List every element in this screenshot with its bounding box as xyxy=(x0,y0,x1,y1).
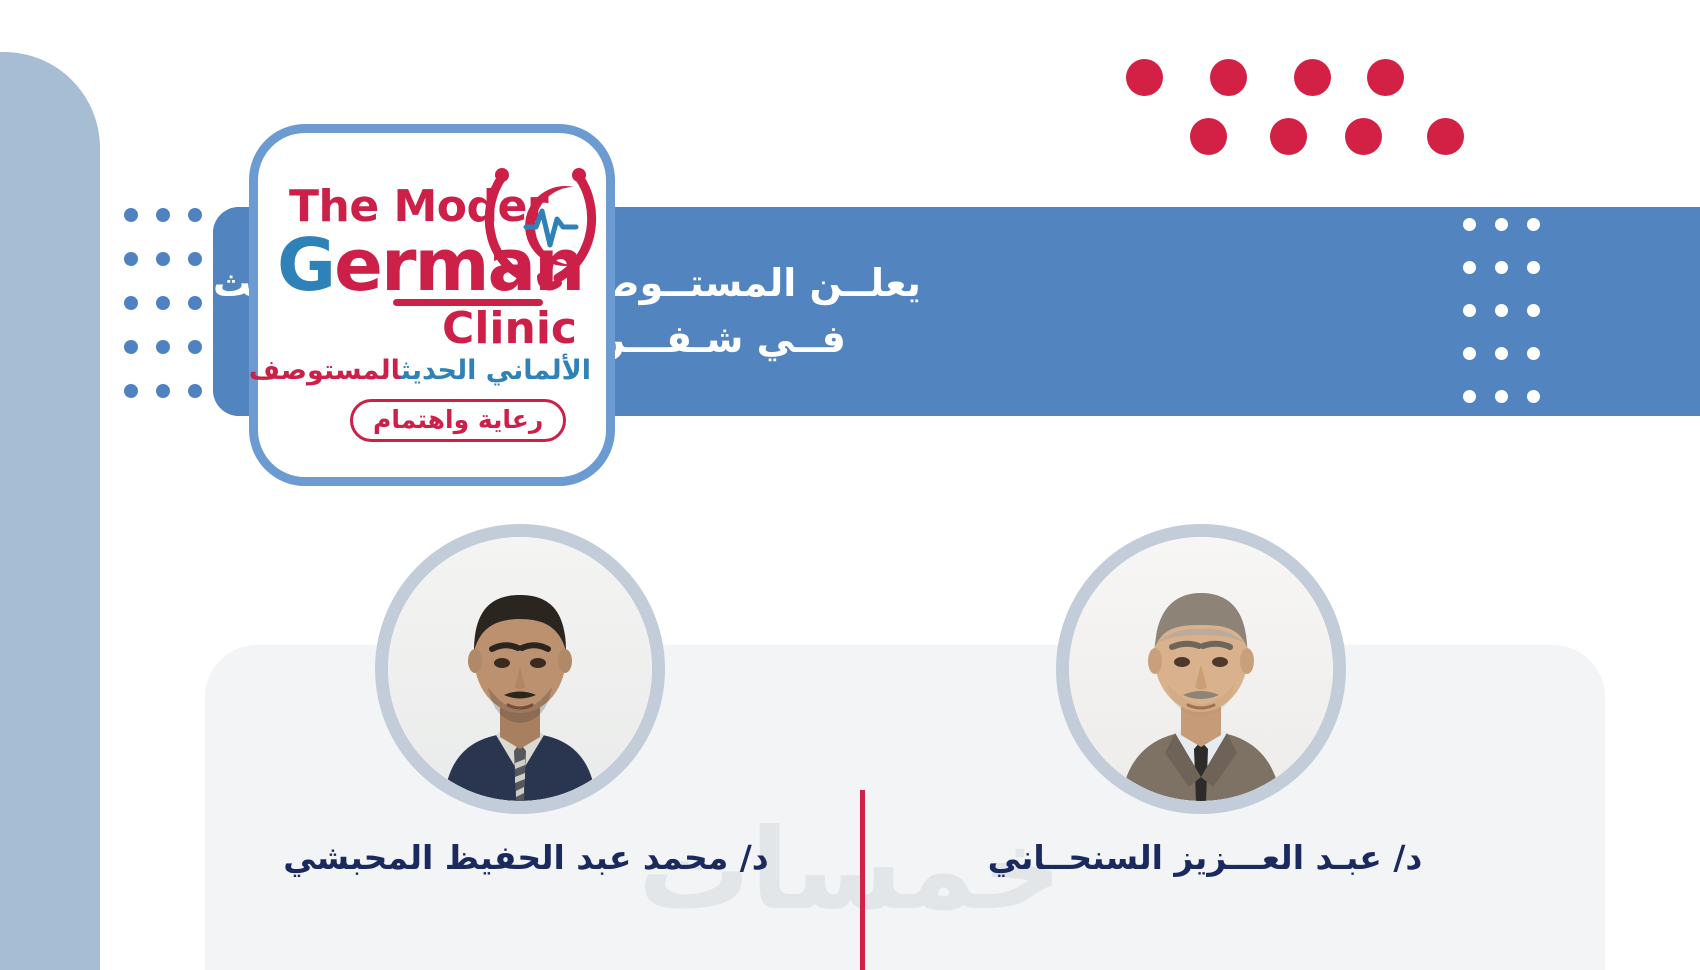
decor-dot xyxy=(124,296,138,310)
decor-dot xyxy=(124,340,138,354)
decor-dot xyxy=(156,252,170,266)
logo-arabic-red: المستوصف xyxy=(249,355,401,386)
decor-dot xyxy=(1527,261,1540,274)
decor-dot xyxy=(188,340,202,354)
decor-dot xyxy=(1463,347,1476,360)
decor-dot xyxy=(188,384,202,398)
doctor-left-photo xyxy=(388,537,652,801)
logo-text-clinic: Clinic xyxy=(442,303,577,354)
red-decor-dot xyxy=(1270,118,1307,155)
left-accent-bar xyxy=(0,52,100,970)
logo-tagline-badge: رعاية واهتمام xyxy=(350,399,566,442)
decor-dot xyxy=(1527,347,1540,360)
red-decor-dot xyxy=(1294,59,1331,96)
logo-arabic-blue: الألماني الحديث xyxy=(401,355,591,386)
portrait-illustration-left xyxy=(388,537,652,801)
red-decor-dot xyxy=(1190,118,1227,155)
logo-letter-g: G xyxy=(277,223,334,307)
portrait-illustration-right xyxy=(1069,537,1333,801)
decor-dot xyxy=(1463,218,1476,231)
clinic-logo: The Moder German Clinic الألماني الحديثا… xyxy=(267,155,597,455)
decor-dot xyxy=(1495,304,1508,317)
decor-dot xyxy=(1495,347,1508,360)
decor-dot xyxy=(188,296,202,310)
decor-dot xyxy=(188,252,202,266)
decor-dot xyxy=(156,296,170,310)
vertical-red-divider xyxy=(860,790,865,970)
red-decor-dot xyxy=(1427,118,1464,155)
decor-dot xyxy=(1463,390,1476,403)
decor-dot xyxy=(1527,390,1540,403)
logo-arabic-name: الألماني الحديثالمستوصف xyxy=(249,355,591,386)
doctor-left-avatar xyxy=(375,524,665,814)
decor-dot xyxy=(1527,218,1540,231)
doctor-left-name: د/ محمد عبد الحفيظ المحبشي xyxy=(276,838,776,877)
decor-dot xyxy=(1463,304,1476,317)
banner-dot-grid xyxy=(1463,218,1559,433)
decor-dot xyxy=(124,384,138,398)
decor-dot xyxy=(1495,218,1508,231)
red-decor-dot xyxy=(1345,118,1382,155)
decor-dot xyxy=(1463,261,1476,274)
crescent-stethoscope-heartbeat-icon xyxy=(478,161,603,291)
doctor-right-photo xyxy=(1069,537,1333,801)
left-dot-grid xyxy=(124,208,220,428)
decor-dot xyxy=(1495,261,1508,274)
poster-canvas: يعلــن المستــوصف الألمــاني الحـديث فــ… xyxy=(0,0,1700,970)
red-decor-dot xyxy=(1210,59,1247,96)
decor-dot xyxy=(156,384,170,398)
red-decor-dot xyxy=(1367,59,1404,96)
decor-dot xyxy=(124,208,138,222)
decor-dot xyxy=(1495,390,1508,403)
decor-dot xyxy=(1527,304,1540,317)
decor-dot xyxy=(156,208,170,222)
decor-dot xyxy=(156,340,170,354)
doctor-right-avatar xyxy=(1056,524,1346,814)
doctor-right-name: د/ عبـد العـــزيز السنحــاني xyxy=(945,838,1465,877)
clinic-logo-card: The Moder German Clinic الألماني الحديثا… xyxy=(249,124,615,486)
decor-dot xyxy=(188,208,202,222)
red-decor-dot xyxy=(1126,59,1163,96)
decor-dot xyxy=(124,252,138,266)
